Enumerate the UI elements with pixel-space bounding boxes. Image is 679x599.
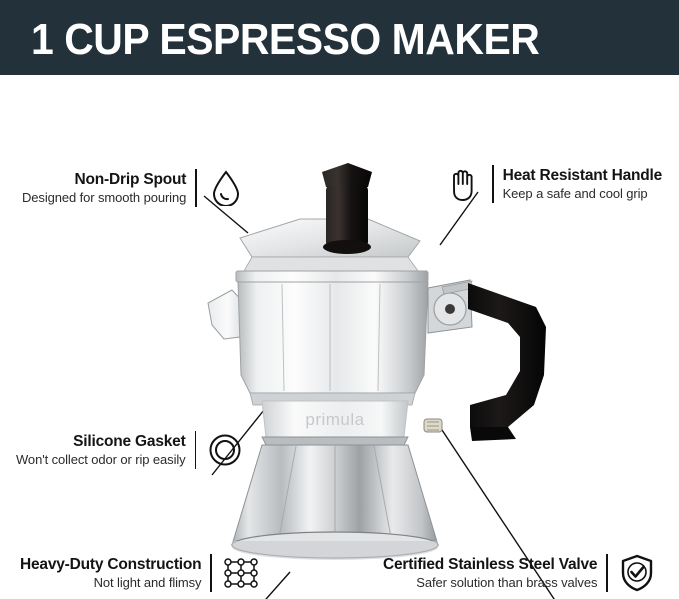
callout-text-block: Silicone Gasket Won't collect odor or ri… (16, 432, 186, 469)
callout-title: Heavy-Duty Construction (20, 555, 201, 574)
callout-text-block: Heavy-Duty Construction Not light and fl… (20, 555, 201, 592)
callout-text-block: Certified Stainless Steel Valve Safer so… (383, 555, 597, 592)
moka-pot-illustration: primula (0, 75, 679, 599)
callout-silicone-gasket: Silicone Gasket Won't collect odor or ri… (16, 430, 245, 470)
callout-text-block: Heat Resistant Handle Keep a safe and co… (503, 166, 662, 203)
callout-title: Non-Drip Spout (75, 170, 187, 189)
callout-subtitle: Won't collect odor or rip easily (16, 451, 186, 469)
callout-title: Heat Resistant Handle (503, 166, 662, 185)
callout-title: Certified Stainless Steel Valve (383, 555, 597, 574)
callout-certified-stainless-steel-valve: Certified Stainless Steel Valve Safer so… (383, 553, 657, 593)
ring-gasket-icon (205, 430, 245, 470)
shield-check-icon (617, 553, 657, 593)
callout-divider (492, 165, 494, 203)
lattice-grid-icon (221, 553, 261, 593)
water-drop-icon (206, 168, 246, 208)
callout-non-drip-spout: Non-Drip Spout Designed for smooth pouri… (22, 168, 246, 208)
callout-text-block: Non-Drip Spout Designed for smooth pouri… (22, 170, 186, 207)
callout-divider (195, 169, 197, 207)
brand-mark: primula (305, 410, 364, 429)
page-title: 1 CUP ESPRESSO MAKER (31, 16, 539, 64)
product-image-area: primula (0, 75, 679, 599)
callout-divider (210, 554, 212, 592)
hand-palm-icon (443, 164, 483, 204)
callout-divider (195, 431, 197, 469)
callout-subtitle: Keep a safe and cool grip (503, 185, 648, 203)
callout-title: Silicone Gasket (73, 432, 185, 451)
callout-subtitle: Safer solution than brass valves (416, 574, 597, 592)
callout-divider (606, 554, 608, 592)
callout-subtitle: Designed for smooth pouring (22, 189, 186, 207)
callout-heavy-duty-construction: Heavy-Duty Construction Not light and fl… (20, 553, 261, 593)
callout-subtitle: Not light and flimsy (94, 574, 202, 592)
safety-valve-detail (424, 419, 442, 432)
header-band: 1 CUP ESPRESSO MAKER (0, 0, 679, 75)
callout-heat-resistant-handle: Heat Resistant Handle Keep a safe and co… (443, 164, 662, 204)
